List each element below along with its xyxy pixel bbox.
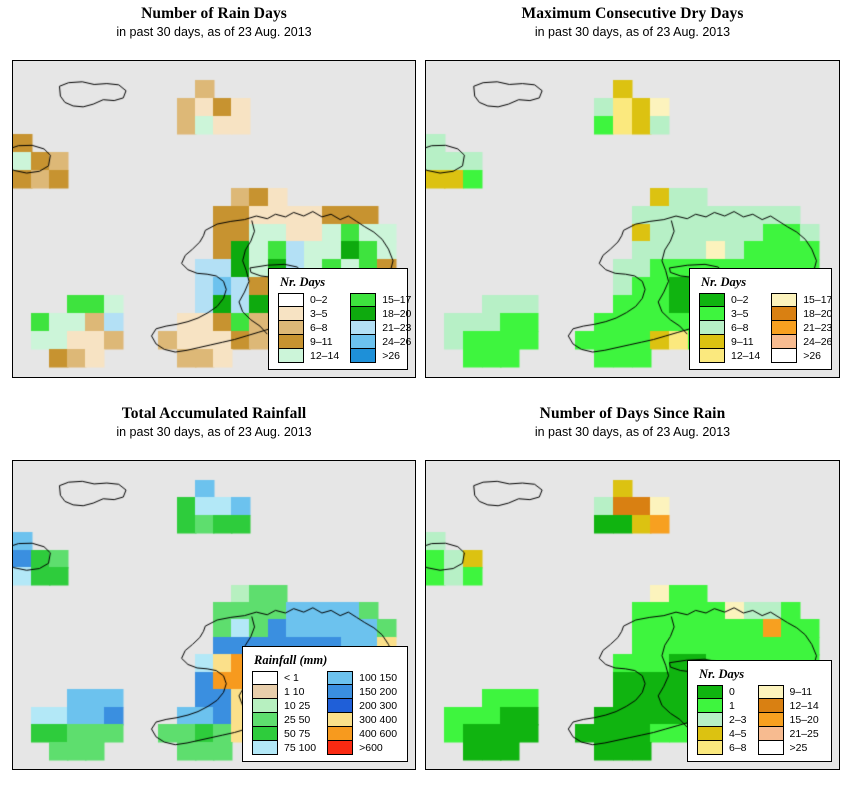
legend-swatch — [252, 671, 278, 685]
legend-title-days-since-rain: Nr. Days — [699, 667, 824, 682]
legend-swatch — [350, 349, 376, 363]
legend-swatch — [350, 335, 376, 349]
map-legend-dry-days: Nr. Days 0–23–56–89–1112–14 15–1718–2021… — [689, 268, 832, 370]
legend-title-rain-days: Nr. Days — [280, 275, 400, 290]
legend-row: 15–17 — [350, 293, 411, 307]
panel-subtitle-dry-days: in past 30 days, as of 23 Aug. 2013 — [425, 26, 840, 39]
legend-swatch — [699, 307, 725, 321]
legend-label: 2–3 — [729, 713, 747, 727]
legend-label: 21–25 — [790, 727, 819, 741]
legend-column-left-total-rainfall: < 11 1010 2525 5050 7575 100 — [252, 671, 316, 755]
legend-label: 4–5 — [729, 727, 747, 741]
legend-title-total-rainfall: Rainfall (mm) — [254, 653, 400, 668]
map-legend-rain-days: Nr. Days 0–23–56–89–1112–14 15–1718–2021… — [268, 268, 408, 370]
legend-row: 100 150 — [327, 671, 397, 685]
map-area-rain-days[interactable]: Nr. Days 0–23–56–89–1112–14 15–1718–2021… — [12, 60, 416, 378]
legend-row: 1 — [697, 699, 747, 713]
legend-title-dry-days: Nr. Days — [701, 275, 824, 290]
map-area-dry-days[interactable]: Nr. Days 0–23–56–89–1112–14 15–1718–2021… — [425, 60, 840, 378]
legend-row: 24–26 — [350, 335, 411, 349]
legend-row: 0 — [697, 685, 747, 699]
legend-label: 12–14 — [310, 349, 339, 363]
legend-label: 21–23 — [382, 321, 411, 335]
legend-label: 0 — [729, 685, 735, 699]
legend-swatch — [350, 293, 376, 307]
legend-swatch — [697, 685, 723, 699]
legend-column-left-rain-days: 0–23–56–89–1112–14 — [278, 293, 339, 363]
legend-label: 3–5 — [731, 307, 749, 321]
legend-swatch — [278, 321, 304, 335]
legend-swatch — [252, 741, 278, 755]
legend-swatch — [771, 335, 797, 349]
panel-title-rain-days: Number of Rain Days — [12, 6, 416, 22]
legend-swatch — [699, 321, 725, 335]
legend-row: 6–8 — [699, 321, 760, 335]
legend-label: 15–20 — [790, 713, 819, 727]
legend-swatch — [252, 713, 278, 727]
panel-title-days-since-rain: Number of Days Since Rain — [425, 406, 840, 422]
legend-row: 18–20 — [350, 307, 411, 321]
legend-row: 150 200 — [327, 685, 397, 699]
legend-label: 1 — [729, 699, 735, 713]
panel-subtitle-days-since-rain: in past 30 days, as of 23 Aug. 2013 — [425, 426, 840, 439]
legend-row: 400 600 — [327, 727, 397, 741]
legend-label: 9–11 — [790, 685, 813, 699]
legend-row: 24–26 — [771, 335, 832, 349]
legend-column-right-dry-days: 15–1718–2021–2324–26>26 — [771, 293, 832, 363]
legend-swatch — [697, 741, 723, 755]
legend-row: 18–20 — [771, 307, 832, 321]
legend-row: < 1 — [252, 671, 316, 685]
legend-label: 200 300 — [359, 699, 397, 713]
legend-row: 15–17 — [771, 293, 832, 307]
legend-swatch — [771, 293, 797, 307]
legend-row: 6–8 — [697, 741, 747, 755]
legend-column-right-days-since-rain: 9–1112–1415–2021–25>25 — [758, 685, 819, 755]
legend-label: 9–11 — [310, 335, 333, 349]
legend-swatch — [758, 685, 784, 699]
legend-label: 9–11 — [731, 335, 754, 349]
legend-row: 9–11 — [699, 335, 760, 349]
legend-row: >600 — [327, 741, 397, 755]
legend-swatch — [771, 307, 797, 321]
legend-swatch — [278, 335, 304, 349]
legend-row: 9–11 — [278, 335, 339, 349]
legend-swatch — [697, 727, 723, 741]
legend-swatch — [350, 307, 376, 321]
legend-label: 50 75 — [284, 727, 310, 741]
figure-root: Number of Rain Days in past 30 days, as … — [0, 0, 853, 793]
legend-label: 10 25 — [284, 699, 310, 713]
legend-label: >26 — [803, 349, 821, 363]
legend-swatch — [278, 307, 304, 321]
legend-swatch — [252, 685, 278, 699]
legend-swatch — [758, 699, 784, 713]
legend-row: 12–14 — [758, 699, 819, 713]
legend-label: 25 50 — [284, 713, 310, 727]
legend-label: 300 400 — [359, 713, 397, 727]
legend-row: 200 300 — [327, 699, 397, 713]
legend-swatch — [252, 727, 278, 741]
legend-swatch — [327, 699, 353, 713]
legend-label: 12–14 — [731, 349, 760, 363]
panel-subtitle-total-rainfall: in past 30 days, as of 23 Aug. 2013 — [12, 426, 416, 439]
legend-row: 21–23 — [771, 321, 832, 335]
legend-label: < 1 — [284, 671, 299, 685]
legend-row: >26 — [771, 349, 832, 363]
legend-swatch — [350, 321, 376, 335]
legend-label: 6–8 — [310, 321, 328, 335]
map-legend-total-rainfall: Rainfall (mm) < 11 1010 2525 5050 7575 1… — [242, 646, 408, 762]
legend-swatch — [699, 349, 725, 363]
legend-swatch — [699, 335, 725, 349]
legend-row: 0–2 — [699, 293, 760, 307]
legend-label: >26 — [382, 349, 400, 363]
legend-row: 12–14 — [278, 349, 339, 363]
legend-row: 12–14 — [699, 349, 760, 363]
legend-row: 3–5 — [699, 307, 760, 321]
legend-row: 75 100 — [252, 741, 316, 755]
legend-column-right-rain-days: 15–1718–2021–2324–26>26 — [350, 293, 411, 363]
legend-row: 9–11 — [758, 685, 819, 699]
legend-label: 15–17 — [382, 293, 411, 307]
legend-column-left-dry-days: 0–23–56–89–1112–14 — [699, 293, 760, 363]
panel-subtitle-rain-days: in past 30 days, as of 23 Aug. 2013 — [12, 26, 416, 39]
legend-row: 300 400 — [327, 713, 397, 727]
legend-row: 10 25 — [252, 699, 316, 713]
legend-row: 15–20 — [758, 713, 819, 727]
legend-swatch — [278, 349, 304, 363]
legend-row: 3–5 — [278, 307, 339, 321]
legend-swatch — [697, 713, 723, 727]
legend-label: 0–2 — [731, 293, 749, 307]
legend-swatch — [327, 671, 353, 685]
map-legend-days-since-rain: Nr. Days 012–34–56–8 9–1112–1415–2021–25… — [687, 660, 832, 762]
legend-row: 1 10 — [252, 685, 316, 699]
legend-row: 21–25 — [758, 727, 819, 741]
legend-row: >25 — [758, 741, 819, 755]
legend-label: 24–26 — [382, 335, 411, 349]
legend-label: 0–2 — [310, 293, 328, 307]
legend-swatch — [758, 741, 784, 755]
legend-label: 75 100 — [284, 741, 316, 755]
legend-swatch — [327, 741, 353, 755]
legend-label: 100 150 — [359, 671, 397, 685]
legend-label: 6–8 — [729, 741, 747, 755]
legend-row: 0–2 — [278, 293, 339, 307]
legend-swatch — [758, 713, 784, 727]
panel-title-total-rainfall: Total Accumulated Rainfall — [12, 406, 416, 422]
legend-column-right-total-rainfall: 100 150150 200200 300300 400400 600>600 — [327, 671, 397, 755]
legend-swatch — [758, 727, 784, 741]
legend-label: 18–20 — [382, 307, 411, 321]
legend-swatch — [327, 713, 353, 727]
legend-label: 21–23 — [803, 321, 832, 335]
legend-swatch — [771, 349, 797, 363]
map-area-days-since-rain[interactable]: Nr. Days 012–34–56–8 9–1112–1415–2021–25… — [425, 460, 840, 770]
legend-label: 15–17 — [803, 293, 832, 307]
legend-swatch — [278, 293, 304, 307]
legend-row: 25 50 — [252, 713, 316, 727]
legend-row: 2–3 — [697, 713, 747, 727]
legend-row: 50 75 — [252, 727, 316, 741]
legend-label: 1 10 — [284, 685, 304, 699]
legend-label: >600 — [359, 741, 383, 755]
map-area-total-rainfall[interactable]: Rainfall (mm) < 11 1010 2525 5050 7575 1… — [12, 460, 416, 770]
legend-row: 6–8 — [278, 321, 339, 335]
legend-swatch — [771, 321, 797, 335]
legend-label: 12–14 — [790, 699, 819, 713]
legend-label: 6–8 — [731, 321, 749, 335]
legend-label: 18–20 — [803, 307, 832, 321]
legend-row: 21–23 — [350, 321, 411, 335]
legend-row: 4–5 — [697, 727, 747, 741]
legend-swatch — [327, 727, 353, 741]
legend-row: >26 — [350, 349, 411, 363]
legend-swatch — [699, 293, 725, 307]
legend-label: >25 — [790, 741, 808, 755]
legend-swatch — [252, 699, 278, 713]
legend-label: 3–5 — [310, 307, 328, 321]
panel-title-dry-days: Maximum Consecutive Dry Days — [425, 6, 840, 22]
legend-swatch — [697, 699, 723, 713]
legend-column-left-days-since-rain: 012–34–56–8 — [697, 685, 747, 755]
legend-swatch — [327, 685, 353, 699]
legend-label: 24–26 — [803, 335, 832, 349]
legend-label: 150 200 — [359, 685, 397, 699]
legend-label: 400 600 — [359, 727, 397, 741]
